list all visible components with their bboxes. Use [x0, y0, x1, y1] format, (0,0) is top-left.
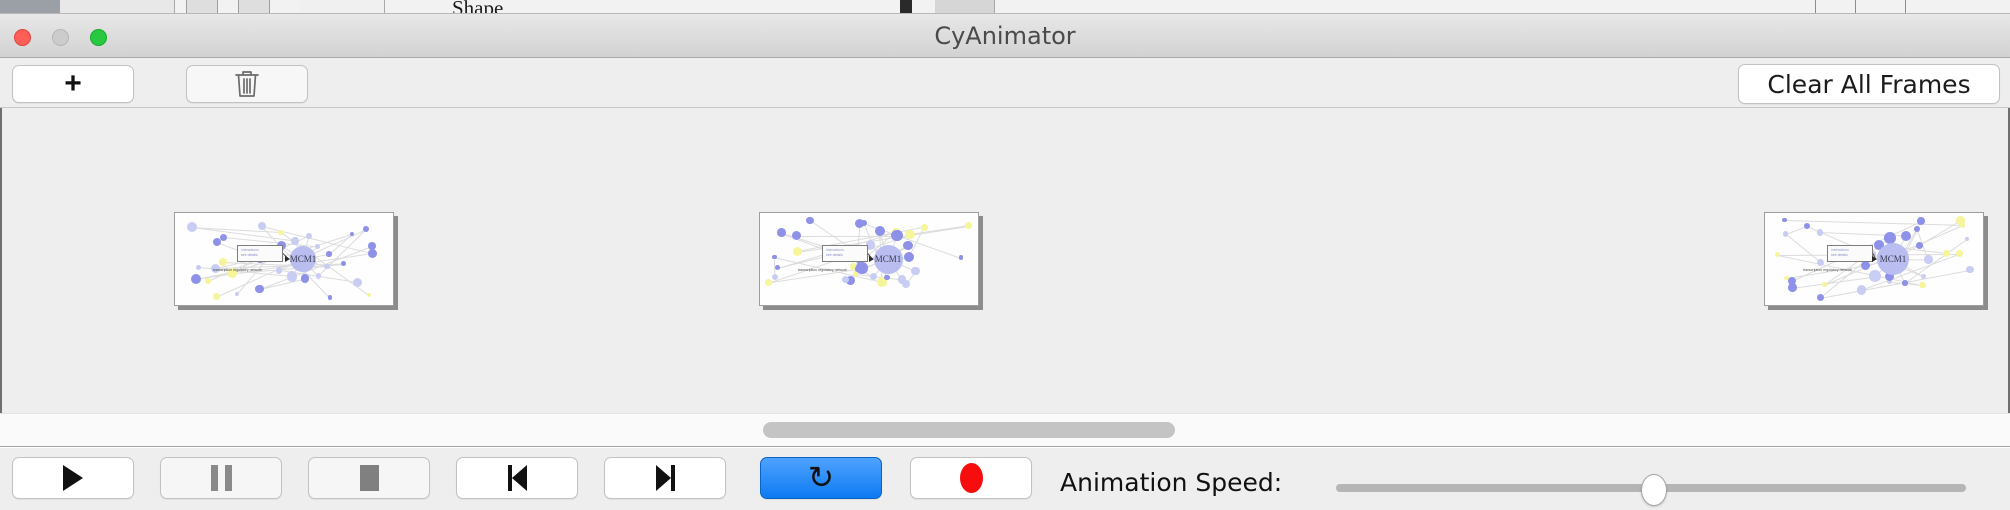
node-tooltip: interactionssee details [1827, 245, 1873, 262]
network-node [1956, 250, 1963, 257]
node-tooltip: interactionssee details [237, 245, 283, 262]
play-button[interactable] [12, 457, 134, 499]
frame-annotation: transcription regulatory network [798, 268, 847, 272]
frame-annotation: transcription regulatory network [1803, 268, 1852, 272]
bg-window-label: Shape [452, 0, 503, 14]
network-node [315, 244, 320, 249]
plus-icon: + [64, 69, 82, 99]
titlebar: CyAnimator [0, 14, 2010, 58]
network-node [903, 241, 912, 250]
network-node [363, 226, 369, 232]
network-node [1924, 255, 1932, 263]
network-hub-node: MCM1 [874, 245, 903, 274]
skip-previous-icon [508, 465, 527, 491]
pause-icon [211, 465, 232, 491]
network-node [884, 275, 889, 280]
network-node [341, 261, 346, 266]
network-node [1919, 282, 1926, 289]
network-hub-node: MCM1 [1877, 243, 1909, 275]
network-node [1783, 231, 1788, 236]
network-node [326, 251, 331, 256]
network-node [792, 231, 801, 240]
next-frame-button[interactable] [604, 457, 726, 499]
network-node [875, 226, 885, 236]
network-edge [1784, 220, 1962, 226]
node-tooltip-line: see details [826, 253, 864, 258]
frame-thumbnail-canvas: MCM1interactionssee detailstranscription… [175, 213, 393, 305]
network-node [965, 222, 972, 229]
toolbar: + Clear All Frames [0, 58, 2010, 108]
background-window-strip: Shape [0, 0, 2010, 14]
clear-all-frames-button[interactable]: Clear All Frames [1738, 64, 2000, 104]
network-node [1782, 218, 1786, 222]
bg-divider [1815, 0, 1816, 14]
network-node [219, 258, 227, 266]
network-node [316, 273, 321, 278]
network-node [1916, 242, 1923, 249]
network-node [1917, 217, 1925, 225]
tooltip-arrowhead [869, 256, 874, 262]
node-tooltip-line: see details [1831, 253, 1869, 258]
network-node [1965, 237, 1970, 242]
bg-tab [238, 0, 270, 14]
network-node [367, 293, 371, 297]
network-node [1966, 266, 1973, 273]
trash-icon [234, 69, 260, 99]
network-node [353, 278, 362, 287]
network-node [1960, 222, 1965, 227]
network-node [220, 234, 227, 241]
bg-marker [900, 0, 912, 14]
network-node [255, 285, 263, 293]
network-node [1902, 280, 1907, 285]
bg-tab [186, 0, 218, 14]
network-node [1914, 226, 1920, 232]
network-node [306, 233, 312, 239]
network-node [1857, 285, 1866, 294]
network-node [213, 238, 221, 246]
frame-thumbnail-canvas: MCM1interactionssee detailstranscription… [1765, 213, 1983, 305]
timeline-frame[interactable]: MCM1interactionssee detailstranscription… [174, 212, 394, 306]
network-node [301, 274, 310, 283]
network-node [213, 293, 220, 300]
network-node [1943, 250, 1950, 257]
play-icon [63, 465, 83, 491]
network-node [287, 271, 298, 282]
network-node [855, 219, 864, 228]
network-node [205, 278, 211, 284]
frame-annotation: transcription regulatory network [213, 268, 262, 272]
loop-icon: ↻ [808, 463, 834, 494]
network-hub-node: MCM1 [290, 246, 316, 272]
loop-button[interactable]: ↻ [760, 457, 882, 499]
stop-icon [360, 465, 379, 491]
network-node [1817, 229, 1823, 235]
add-frame-button[interactable]: + [12, 65, 134, 103]
network-node [324, 264, 330, 270]
network-node [278, 230, 283, 235]
network-node [1817, 294, 1825, 302]
timeline-frame[interactable]: MCM1interactionssee detailstranscription… [759, 212, 979, 306]
network-node [196, 265, 201, 270]
stop-button[interactable] [308, 457, 430, 499]
window-title: CyAnimator [0, 14, 2010, 58]
network-node [235, 292, 239, 296]
network-node [775, 265, 780, 270]
tooltip-arrowhead [285, 256, 290, 262]
network-node [1869, 270, 1881, 282]
network-node [1861, 261, 1870, 270]
cyanimator-window: Shape CyAnimator + Clear All Frames MCM1… [0, 0, 2010, 510]
network-node [856, 262, 867, 273]
network-node [772, 255, 777, 260]
timeline-scrollbar[interactable] [0, 413, 2010, 447]
network-node [191, 274, 201, 284]
animation-speed-label: Animation Speed: [1060, 468, 1282, 497]
network-node [959, 255, 964, 260]
record-icon [960, 463, 983, 493]
network-node [1817, 259, 1824, 266]
bg-divider [1855, 0, 1856, 14]
delete-frame-button[interactable] [186, 65, 308, 103]
network-node [905, 230, 915, 240]
bg-chunk [60, 0, 175, 14]
network-node [291, 237, 299, 245]
pause-button[interactable] [160, 457, 282, 499]
record-button[interactable] [910, 457, 1032, 499]
bg-chunk [935, 0, 995, 14]
network-node [1788, 277, 1796, 285]
network-node [777, 228, 786, 237]
frame-thumbnail-canvas: MCM1interactionssee detailstranscription… [760, 213, 978, 305]
node-tooltip: interactionssee details [822, 245, 868, 262]
network-node [921, 224, 928, 231]
network-node [328, 295, 332, 299]
previous-frame-button[interactable] [456, 457, 578, 499]
network-node [891, 230, 903, 242]
network-node [187, 222, 197, 232]
playback-controls: ↻ Animation Speed: [0, 448, 2010, 510]
node-tooltip-line: see details [241, 253, 279, 258]
tooltip-arrowhead [1872, 256, 1877, 262]
bg-dark-block [0, 0, 60, 14]
network-node [806, 217, 813, 224]
network-node [765, 279, 773, 287]
network-node [911, 267, 920, 276]
network-node [276, 267, 282, 273]
network-node [1822, 282, 1827, 287]
network-node [904, 252, 914, 262]
network-node [870, 273, 878, 281]
network-node [368, 249, 378, 259]
timeline-frame[interactable]: MCM1interactionssee detailstranscription… [1764, 212, 1984, 306]
network-node [793, 247, 802, 256]
bg-divider [1905, 0, 1906, 14]
timeline-panel[interactable]: MCM1interactionssee detailstranscription… [0, 108, 2010, 413]
skip-next-icon [656, 465, 675, 491]
animation-speed-slider-knob[interactable] [1641, 474, 1667, 506]
scrollbar-thumb[interactable] [763, 422, 1175, 438]
bg-chunk [300, 0, 385, 14]
